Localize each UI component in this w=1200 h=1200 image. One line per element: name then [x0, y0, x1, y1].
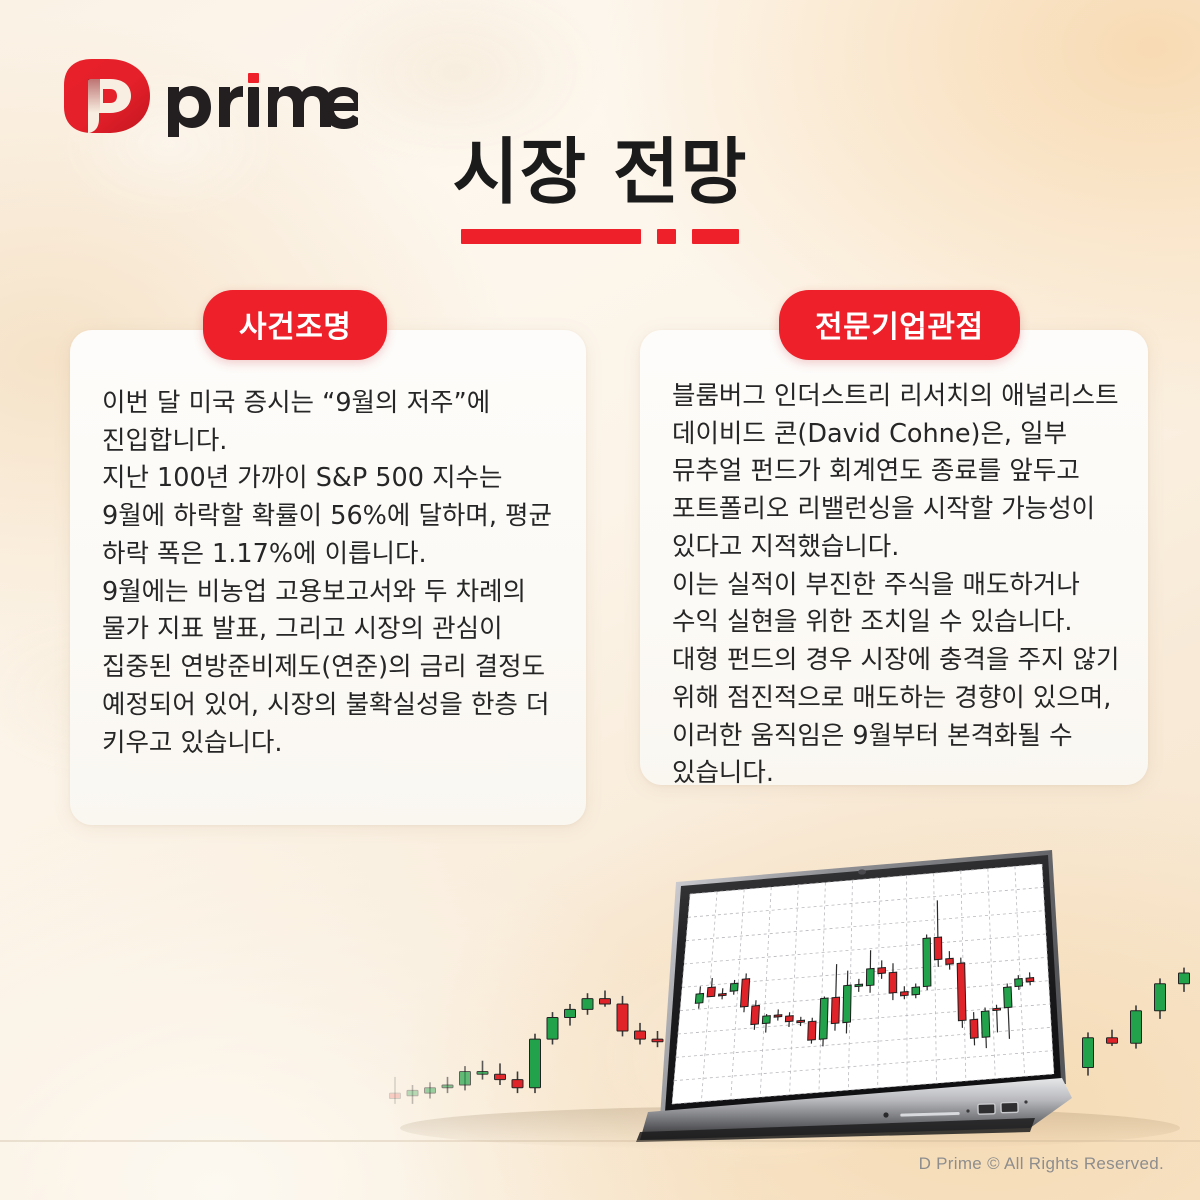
panel-body-incident-spotlight: 이번 달 미국 증시는 “9월의 저주”에 진입합니다. 지난 100년 가까이… [102, 385, 557, 762]
laptop-webcam-icon [858, 869, 866, 874]
brand-logo[interactable] [58, 55, 358, 137]
laptop-port-dot-icon [966, 1109, 969, 1112]
laptop-port-usb-a-icon [978, 1104, 995, 1114]
title-underline-segment-short [692, 229, 739, 244]
panel-incident-spotlight: 사건조명 이번 달 미국 증시는 “9월의 저주”에 진입합니다. 지난 100… [70, 290, 590, 870]
poster-canvas: 시장 전망 사건조명 이번 달 미국 증시는 “9월의 저주”에 진입합니다. … [0, 0, 1200, 1200]
laptop-chart-illustration [0, 840, 1200, 1200]
title-underline-segment-long [461, 229, 641, 244]
panel-expert-view: 전문기업관점 블룸버그 인더스트리 리서치의 애널리스트 데이비드 콘(Davi… [640, 290, 1150, 830]
laptop-port-jack-icon [883, 1112, 888, 1117]
panel-badge-expert-view[interactable]: 전문기업관점 [779, 290, 1020, 360]
laptop-icon [0, 840, 1200, 1200]
laptop-port-dot2-icon [1024, 1100, 1027, 1103]
desk-line [0, 1140, 1200, 1142]
d-prime-logo-icon [58, 55, 358, 137]
title-underline-segment-dot [657, 229, 676, 244]
panel-badge-incident-spotlight[interactable]: 사건조명 [203, 290, 387, 360]
logo-i-dot-icon [248, 73, 259, 83]
background-candles-right [1083, 968, 1190, 1076]
title-block: 시장 전망 [0, 132, 1200, 244]
footer-copyright: D Prime © All Rights Reserved. [919, 1154, 1164, 1174]
page-title: 시장 전망 [0, 132, 1200, 213]
panel-body-expert-view: 블룸버그 인더스트리 리서치의 애널리스트 데이비드 콘(David Cohne… [672, 378, 1122, 793]
title-underline [0, 229, 1200, 244]
laptop-port-usb-b-icon [1001, 1102, 1018, 1112]
